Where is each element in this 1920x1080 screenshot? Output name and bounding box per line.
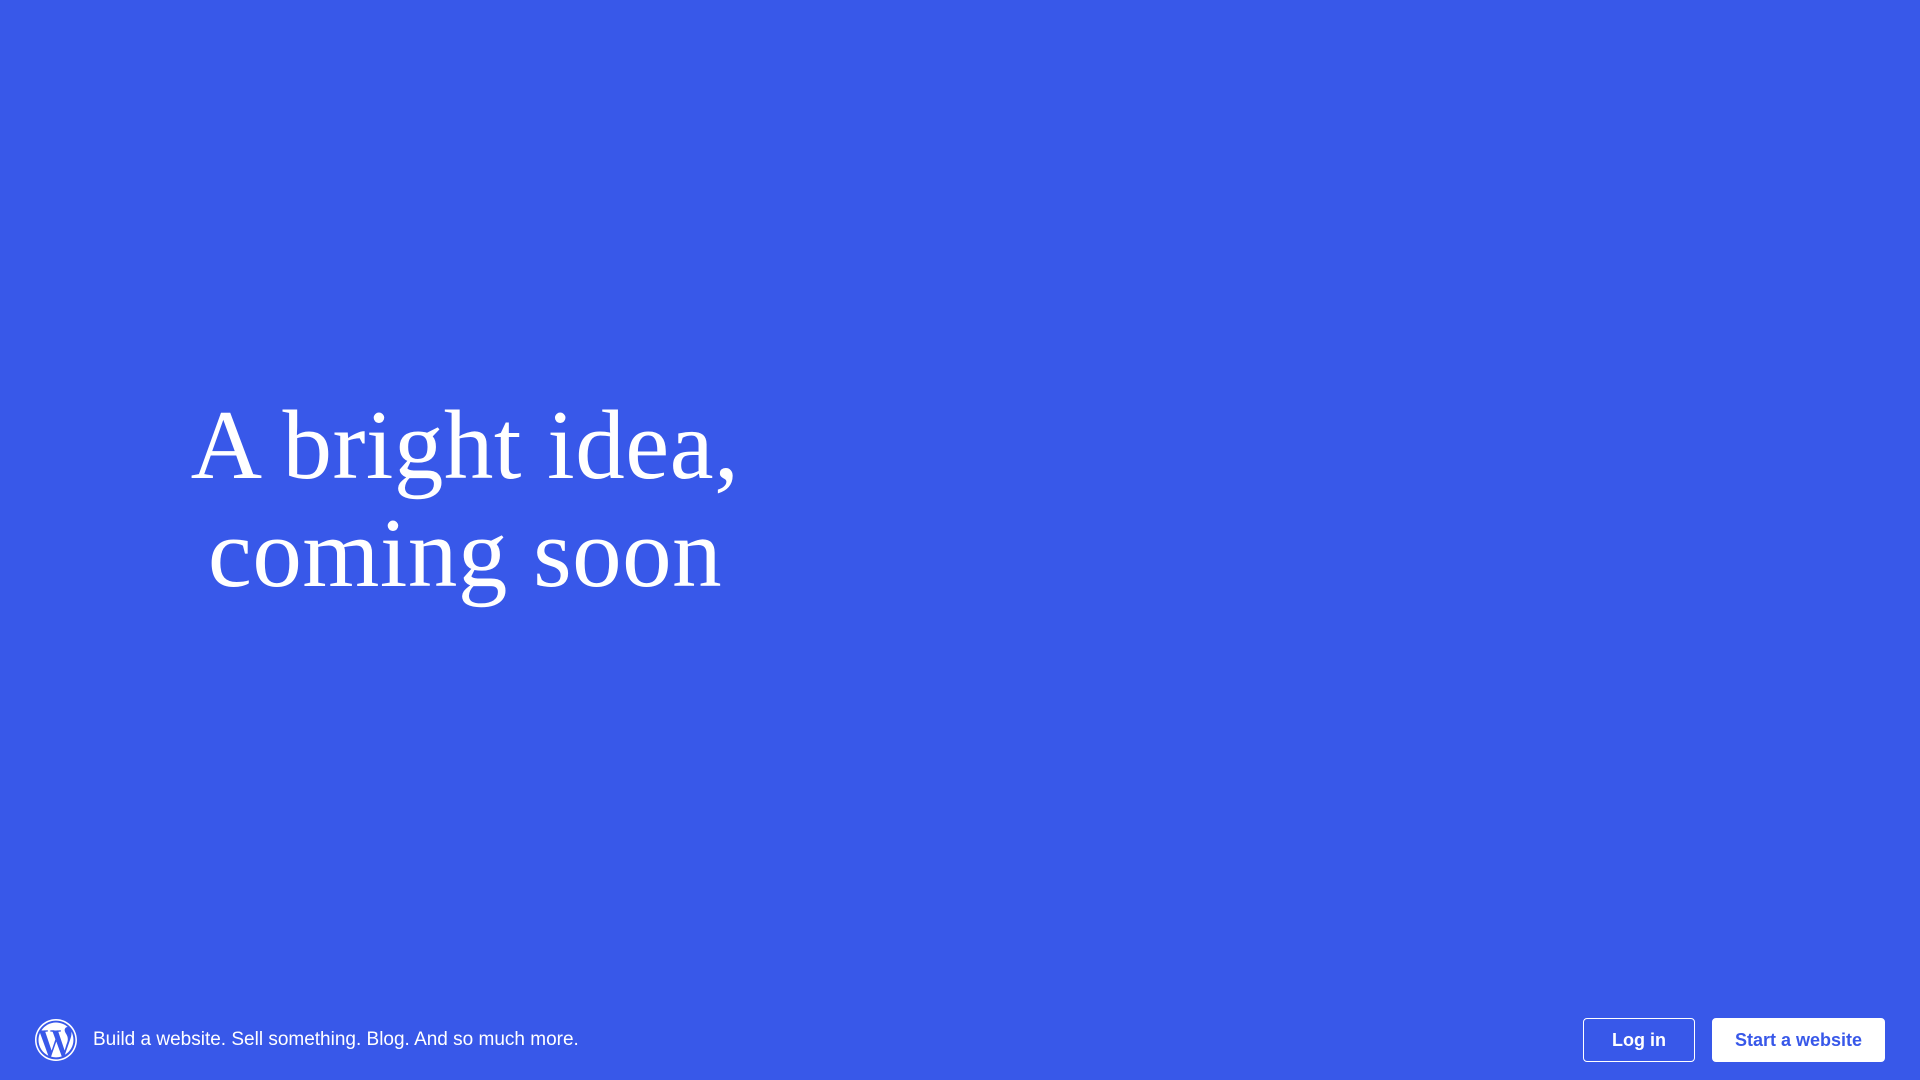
- footer-tagline: Build a website. Sell something. Blog. A…: [93, 1028, 579, 1052]
- login-button[interactable]: Log in: [1583, 1018, 1695, 1062]
- page-title: A bright idea, coming soon: [191, 392, 740, 608]
- wordpress-logo-icon: [35, 1019, 77, 1061]
- hero-section: A bright idea, coming soon: [0, 0, 1920, 1000]
- footer-bar: Build a website. Sell something. Blog. A…: [0, 1000, 1920, 1080]
- start-a-website-button[interactable]: Start a website: [1712, 1018, 1885, 1062]
- hero-content: A bright idea, coming soon: [125, 392, 805, 608]
- footer-actions: Log in Start a website: [1583, 1018, 1885, 1062]
- footer-branding: Build a website. Sell something. Blog. A…: [35, 1019, 1583, 1061]
